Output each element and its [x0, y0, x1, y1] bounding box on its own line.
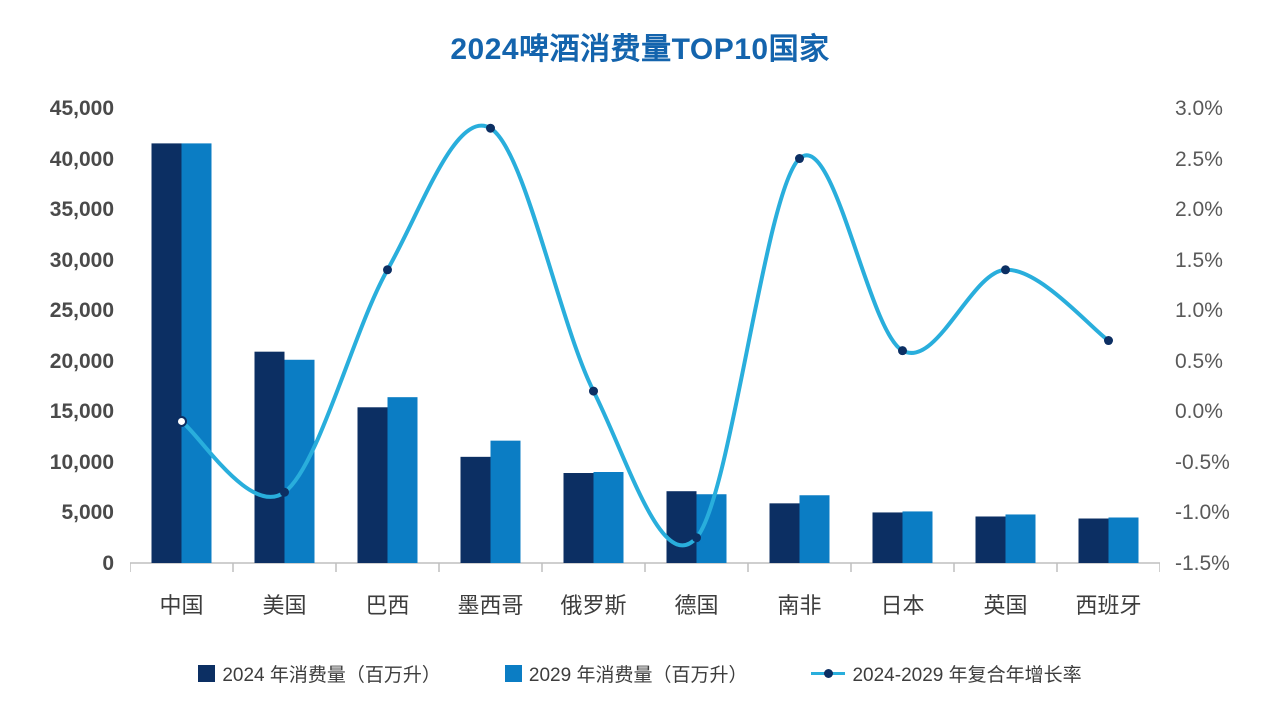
bar-group-6 — [770, 495, 830, 563]
x-axis-tick-1: 美国 — [233, 595, 336, 617]
y-right-tick: 1.0% — [1175, 300, 1223, 321]
bar-2024 — [255, 352, 285, 563]
legend-item-1[interactable]: 2029 年消费量（百万升） — [505, 660, 748, 687]
bar-2024 — [152, 143, 182, 563]
bar-group-8 — [976, 514, 1036, 563]
cagr-marker-5 — [692, 533, 701, 542]
bar-group-2 — [358, 397, 418, 563]
bar-group-4 — [564, 472, 624, 563]
bar-2029 — [1109, 518, 1139, 564]
legend-line-marker-icon — [811, 665, 845, 682]
plot-area — [130, 108, 1160, 563]
bar-2029 — [388, 397, 418, 563]
y-axis-left-labels: 05,00010,00015,00020,00025,00030,00035,0… — [0, 108, 122, 563]
cagr-marker-1 — [280, 488, 289, 497]
y-right-tick: 0.0% — [1175, 401, 1223, 422]
bar-2029 — [1006, 514, 1036, 563]
y-right-tick: 0.5% — [1175, 351, 1223, 372]
legend-swatch-icon — [198, 665, 215, 682]
bar-2024 — [1079, 519, 1109, 563]
x-axis-tick-8: 英国 — [954, 595, 1057, 617]
y-left-tick: 25,000 — [0, 300, 114, 321]
plot-svg — [130, 108, 1160, 608]
y-right-tick: -1.5% — [1175, 553, 1230, 574]
legend-item-2[interactable]: 2024-2029 年复合年增长率 — [811, 660, 1081, 687]
bar-group-5 — [667, 491, 727, 563]
cagr-marker-4 — [589, 387, 598, 396]
y-left-tick: 10,000 — [0, 452, 114, 473]
bar-group-0 — [152, 143, 212, 563]
x-axis-tick-6: 南非 — [748, 595, 851, 617]
bar-2024 — [667, 491, 697, 563]
y-right-tick: -1.0% — [1175, 502, 1230, 523]
bar-group-1 — [255, 352, 315, 563]
bar-2029 — [903, 511, 933, 563]
y-left-tick: 0 — [0, 553, 114, 574]
beer-consumption-chart: 2024啤酒消费量TOP10国家 05,00010,00015,00020,00… — [0, 0, 1280, 720]
y-left-tick: 15,000 — [0, 401, 114, 422]
y-right-tick: 3.0% — [1175, 98, 1223, 119]
y-left-tick: 30,000 — [0, 250, 114, 271]
x-axis-tick-0: 中国 — [130, 595, 233, 617]
x-axis-tick-4: 俄罗斯 — [542, 595, 645, 617]
legend-item-0[interactable]: 2024 年消费量（百万升） — [198, 660, 441, 687]
legend-label: 2029 年消费量（百万升） — [529, 660, 748, 687]
legend-swatch-icon — [505, 665, 522, 682]
y-left-tick: 5,000 — [0, 502, 114, 523]
bar-2024 — [770, 503, 800, 563]
x-axis-tick-9: 西班牙 — [1057, 595, 1160, 617]
y-axis-right-labels: -1.5%-1.0%-0.5%0.0%0.5%1.0%1.5%2.0%2.5%3… — [1175, 108, 1275, 563]
bar-2024 — [358, 407, 388, 563]
legend-label: 2024 年消费量（百万升） — [222, 660, 441, 687]
x-axis-tick-5: 德国 — [645, 595, 748, 617]
bar-group-9 — [1079, 518, 1139, 564]
bar-2024 — [564, 473, 594, 563]
cagr-marker-8 — [1001, 265, 1010, 274]
bar-2024 — [976, 516, 1006, 563]
cagr-marker-6 — [795, 154, 804, 163]
y-left-tick: 45,000 — [0, 98, 114, 119]
y-right-tick: 2.0% — [1175, 199, 1223, 220]
bar-2029 — [491, 441, 521, 563]
bar-2029 — [182, 143, 212, 563]
cagr-marker-2 — [383, 265, 392, 274]
bar-2024 — [461, 457, 491, 563]
bar-2029 — [285, 360, 315, 563]
x-axis-tick-7: 日本 — [851, 595, 954, 617]
x-axis-tick-2: 巴西 — [336, 595, 439, 617]
y-left-tick: 40,000 — [0, 149, 114, 170]
bar-group-3 — [461, 441, 521, 563]
cagr-line — [182, 126, 1109, 546]
x-axis-tick-3: 墨西哥 — [439, 595, 542, 617]
bar-2029 — [800, 495, 830, 563]
y-left-tick: 35,000 — [0, 199, 114, 220]
y-left-tick: 20,000 — [0, 351, 114, 372]
chart-title: 2024啤酒消费量TOP10国家 — [0, 24, 1280, 68]
legend-label: 2024-2029 年复合年增长率 — [852, 660, 1081, 687]
y-right-tick: 1.5% — [1175, 250, 1223, 271]
cagr-marker-9 — [1104, 336, 1113, 345]
cagr-marker-3 — [486, 124, 495, 133]
y-right-tick: -0.5% — [1175, 452, 1230, 473]
bar-2024 — [873, 512, 903, 563]
bar-group-7 — [873, 511, 933, 563]
cagr-marker-7 — [898, 346, 907, 355]
chart-legend: 2024 年消费量（百万升）2029 年消费量（百万升）2024-2029 年复… — [0, 660, 1280, 687]
bar-2029 — [594, 472, 624, 563]
cagr-marker-0 — [177, 417, 186, 426]
y-right-tick: 2.5% — [1175, 149, 1223, 170]
